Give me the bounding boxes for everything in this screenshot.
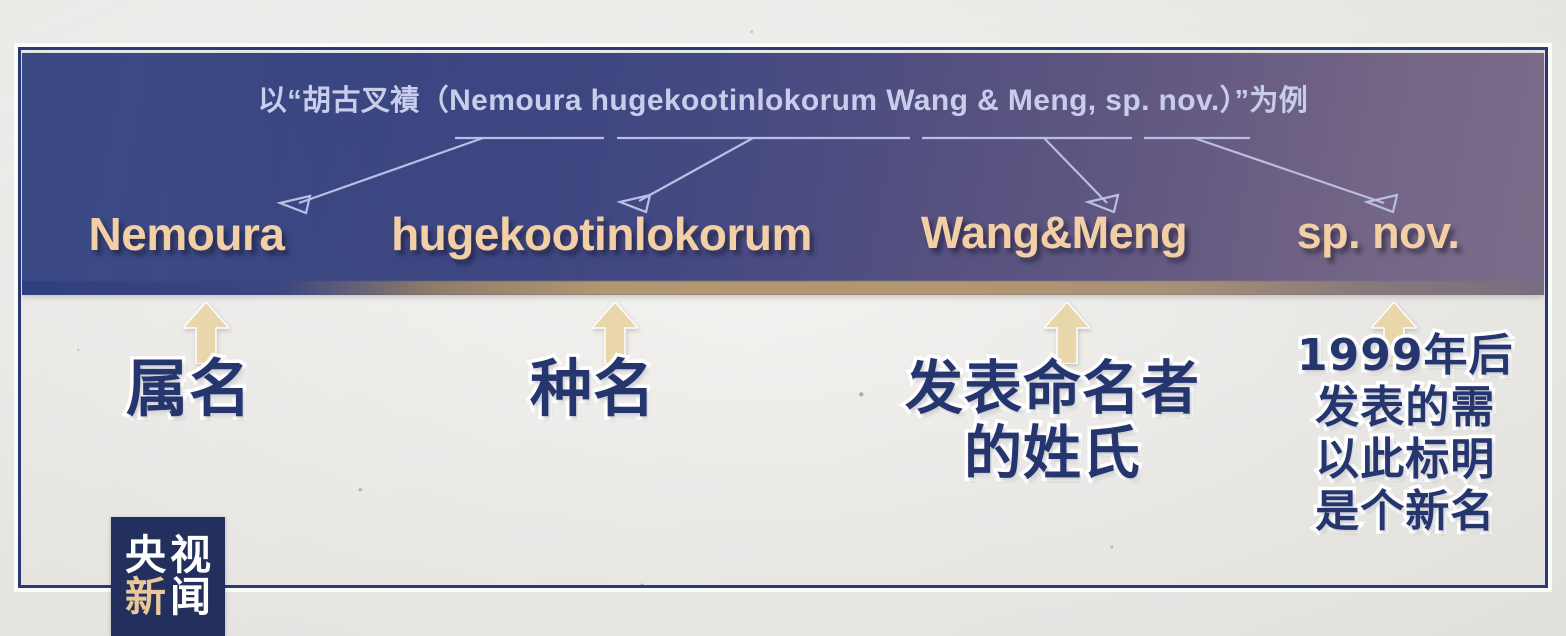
callout-authors-line-1: 发表命名者 bbox=[905, 356, 1200, 421]
logo-line-1: 央 视 bbox=[125, 535, 211, 576]
callout-note-label: 1999年后 发表的需 以此标明 是个新名 bbox=[1297, 330, 1513, 538]
header-prefix: 以 bbox=[258, 85, 287, 117]
example-header-text: 以“胡古叉襀（Nemoura hugekootinlokorum Wang & … bbox=[22, 77, 1544, 119]
callout-genus-line-1: 属名 bbox=[126, 356, 252, 421]
callout-species-label: 种名 bbox=[530, 356, 656, 421]
latin-part-status: sp. nov. bbox=[1234, 207, 1522, 259]
callout-species-line-1: 种名 bbox=[530, 356, 656, 421]
logo-char-wen: 闻 bbox=[170, 577, 211, 618]
callout-genus-label: 属名 bbox=[126, 356, 252, 421]
headline-panel: 以“胡古叉襀（Nemoura hugekootinlokorum Wang & … bbox=[22, 53, 1544, 295]
latin-part-authors: Wang&Meng bbox=[874, 207, 1234, 259]
latin-name-parts-row: Nemoura hugekootinlokorum Wang&Meng sp. … bbox=[22, 207, 1544, 261]
header-paren-open: （ bbox=[420, 85, 449, 117]
callout-note-line-3: 以此标明 bbox=[1297, 434, 1513, 486]
callout-note-line-2: 发表的需 bbox=[1297, 382, 1513, 434]
logo-char-yang: 央 bbox=[125, 535, 166, 576]
header-close-quote: ” bbox=[1235, 85, 1250, 117]
pointer-status bbox=[1194, 138, 1384, 203]
logo-char-xin: 新 bbox=[125, 577, 166, 618]
infographic-canvas: 以“胡古叉襀（Nemoura hugekootinlokorum Wang & … bbox=[0, 0, 1566, 636]
pointer-species bbox=[639, 138, 753, 201]
header-latin-name: Nemoura hugekootinlokorum Wang & Meng, s… bbox=[449, 84, 1219, 117]
header-open-quote: “ bbox=[287, 85, 302, 117]
latin-part-genus: Nemoura bbox=[44, 207, 329, 261]
callout-authors-label: 发表命名者 的姓氏 bbox=[905, 356, 1200, 486]
panel-gold-accent-band bbox=[22, 281, 1544, 295]
callout-note-line-1: 1999年后 bbox=[1297, 330, 1513, 382]
header-chinese-name: 胡古叉襀 bbox=[302, 85, 420, 117]
header-paren-close: ） bbox=[1220, 85, 1235, 117]
pointer-genus bbox=[299, 138, 483, 203]
callout-authors-line-2: 的姓氏 bbox=[905, 421, 1200, 486]
callout-note-line-4: 是个新名 bbox=[1297, 486, 1513, 538]
cctv-news-logo: 央 视 新 闻 bbox=[111, 517, 225, 636]
logo-line-2: 新 闻 bbox=[125, 577, 211, 618]
latin-part-species: hugekootinlokorum bbox=[329, 207, 874, 261]
header-suffix: 为例 bbox=[1249, 85, 1308, 117]
pointer-authors bbox=[1044, 138, 1107, 203]
logo-char-shi: 视 bbox=[170, 535, 211, 576]
